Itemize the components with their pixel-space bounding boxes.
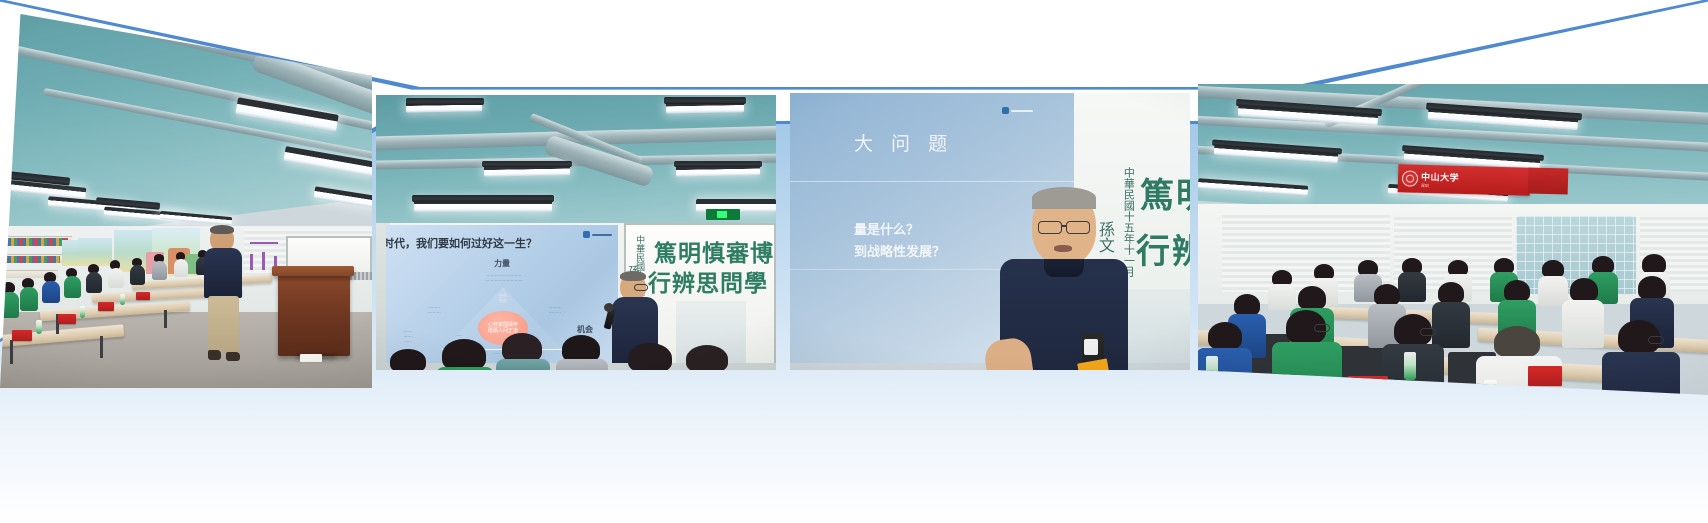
scene-audience: 中山大学 深圳 (1198, 84, 1708, 395)
banner-subtitle: 深圳 (1421, 182, 1459, 189)
scene-speaker: 大 问 题 量是什么？ 到战略性发展？ 篤明 行辨 中華民國十五年十一月 孫文 (790, 93, 1190, 370)
slide-subtext: ········································… (434, 273, 574, 283)
scene-presentation: 的时代，我们要如何过好这一生？ 力量 ·····················… (376, 95, 776, 370)
calligraphy-line-2: 行辨思問學 (648, 271, 768, 297)
calligraphy-line-2: 行辨 (1136, 233, 1190, 271)
name-card (98, 302, 114, 311)
calligraphy-line-1: 篤明 (1140, 177, 1190, 215)
brand-logo-icon (1002, 107, 1009, 114)
calligraphy-column-right: 中華民國十五年十一月 (1122, 167, 1134, 263)
speaker-slide-line-2: 到战略性发展？ (854, 241, 945, 260)
gallery-stage: 的时代，我们要如何过好这一生？ 力量 ·····················… (0, 0, 1708, 523)
photo-classroom-wide-left[interactable] (0, 14, 372, 388)
university-banner: 中山大学 深圳 (1398, 164, 1531, 195)
speaker-slide-line-1: 量是什么？ (854, 219, 919, 238)
name-card (136, 292, 150, 300)
slide-right-label: 机会 (568, 325, 602, 335)
name-card (12, 330, 32, 341)
water-bottle (1404, 352, 1416, 380)
banner-title: 中山大学 (1421, 169, 1459, 183)
slide-center-label: 力量 (482, 259, 522, 269)
lectern (278, 270, 350, 356)
name-card (1528, 366, 1562, 386)
speaker-slide-title: 大 问 题 (854, 129, 953, 156)
calligraphy-line-1: 篤明慎審博 (654, 241, 774, 267)
photo-slide-presentation[interactable]: 的时代，我们要如何过好这一生？ 力量 ·····················… (376, 95, 776, 370)
name-card (58, 314, 76, 324)
slide-headline: 的时代，我们要如何过好这一生？ (386, 235, 537, 251)
university-seal-icon (1402, 170, 1418, 186)
photo-audience-right[interactable]: 中山大学 深圳 (1198, 84, 1708, 395)
brand-logo-icon (583, 231, 590, 238)
scene-lecture-hall (0, 14, 372, 388)
photo-speaker-closeup[interactable]: 大 问 题 量是什么？ 到战略性发展？ 篤明 行辨 中華民國十五年十一月 孫文 (790, 93, 1190, 370)
